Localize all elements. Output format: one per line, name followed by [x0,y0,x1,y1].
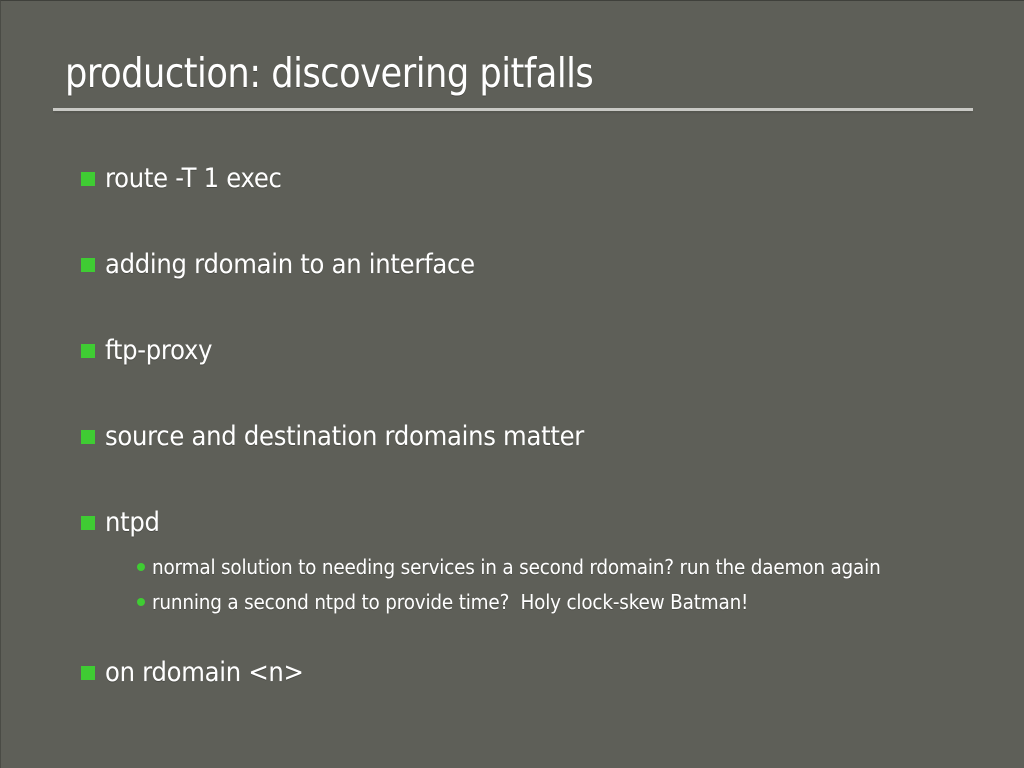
list-item: source and destination rdomains matter [81,419,981,455]
sub-list-item-label: running a second ntpd to provide time? H… [152,586,915,619]
page-title: production: discovering pitfalls [53,45,844,101]
green-square-bullet-icon [81,258,95,272]
list-item-label: source and destination rdomains matter [105,419,893,455]
sub-list-item: normal solution to needing services in a… [137,551,981,584]
list-item-label: ftp-proxy [105,333,893,369]
list-item: adding rdomain to an interface [81,247,981,283]
sub-list-item: running a second ntpd to provide time? H… [137,586,981,619]
list-item-label: route -T 1 exec [105,161,893,197]
green-dot-bullet-icon [137,598,145,606]
list-item-label: on rdomain <n> [105,655,893,691]
green-dot-bullet-icon [137,563,145,571]
green-square-bullet-icon [81,430,95,444]
green-square-bullet-icon [81,172,95,186]
list-item: ftp-proxy [81,333,981,369]
list-item-label: adding rdomain to an interface [105,247,893,283]
sub-list: normal solution to needing services in a… [137,551,981,619]
sub-list-item-label: normal solution to needing services in a… [152,551,915,584]
list-item: on rdomain <n> [81,655,981,691]
list-item: ntpd normal solution to needing services… [81,505,981,619]
green-square-bullet-icon [81,344,95,358]
bullet-list: route -T 1 exec adding rdomain to an int… [81,161,981,691]
green-square-bullet-icon [81,666,95,680]
green-square-bullet-icon [81,516,95,530]
title-underline-rule [53,108,973,111]
presentation-slide: production: discovering pitfalls route -… [0,0,1024,768]
slide-title-block: production: discovering pitfalls [53,45,973,111]
list-item: route -T 1 exec [81,161,981,197]
list-item-label: ntpd [105,505,893,541]
